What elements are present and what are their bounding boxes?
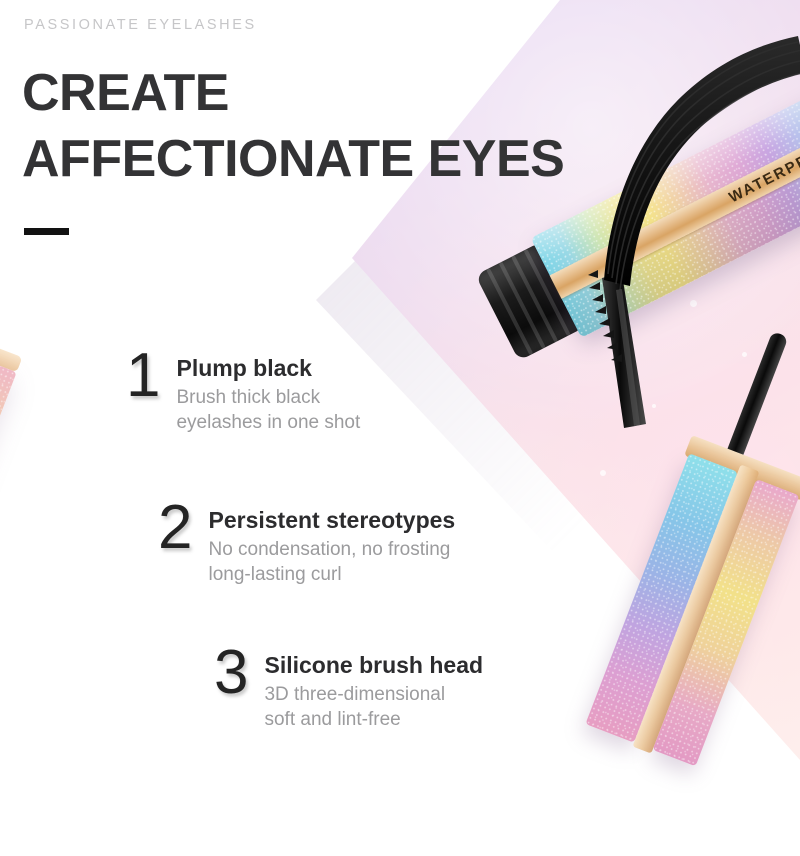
feature-text: Silicone brush head 3D three-dimensional…	[264, 645, 483, 732]
banner-content: PASSIONATE EYELASHES CREATE AFFECTIONATE…	[0, 0, 800, 800]
feature-description-line: eyelashes in one shot	[176, 410, 360, 435]
feature-title: Silicone brush head	[264, 651, 483, 679]
feature-text: Persistent stereotypes No condensation, …	[208, 500, 455, 587]
feature-title: Plump black	[176, 354, 360, 382]
feature-description: Brush thick black eyelashes in one shot	[176, 385, 360, 435]
feature-item-3: 3 Silicone brush head 3D three-dimension…	[214, 645, 483, 732]
feature-item-1: 1 Plump black Brush thick black eyelashe…	[126, 348, 360, 435]
feature-list: 1 Plump black Brush thick black eyelashe…	[0, 0, 800, 800]
feature-description-line: long-lasting curl	[208, 562, 455, 587]
feature-description: 3D three-dimensional soft and lint-free	[264, 682, 483, 732]
feature-item-2: 2 Persistent stereotypes No condensation…	[158, 500, 455, 587]
feature-description-line: soft and lint-free	[264, 707, 483, 732]
feature-number: 3	[214, 645, 248, 701]
feature-description: No condensation, no frosting long-lastin…	[208, 537, 455, 587]
feature-number: 2	[158, 500, 192, 556]
feature-description-line: 3D three-dimensional	[264, 682, 483, 707]
feature-description-line: No condensation, no frosting	[208, 537, 455, 562]
feature-title: Persistent stereotypes	[208, 506, 455, 534]
feature-number: 1	[126, 348, 160, 404]
feature-description-line: Brush thick black	[176, 385, 360, 410]
feature-text: Plump black Brush thick black eyelashes …	[176, 348, 360, 435]
